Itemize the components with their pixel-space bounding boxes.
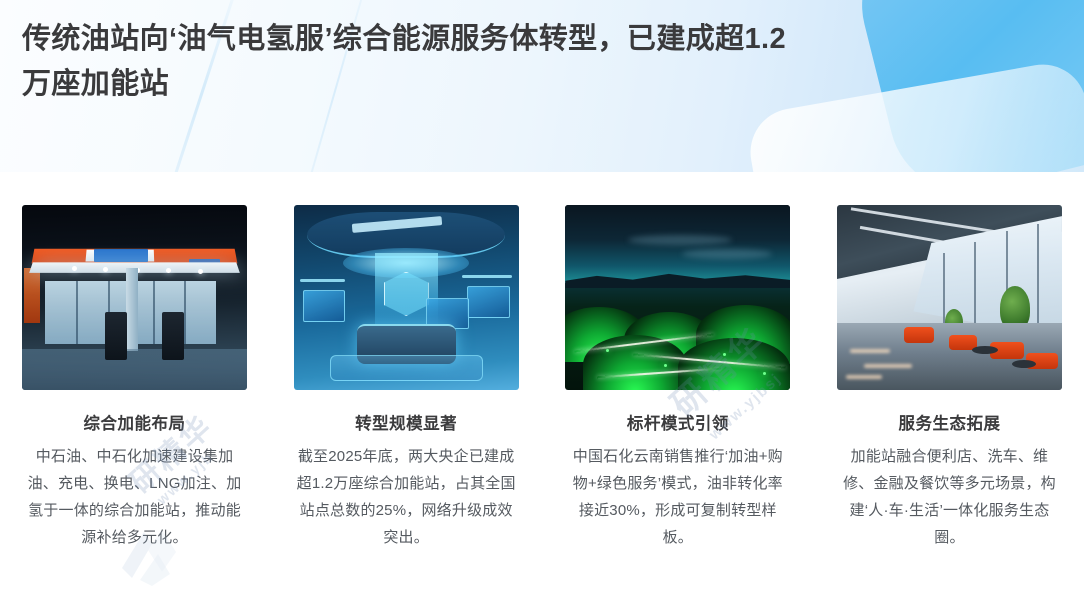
page-title: 传统油站向‘油气电氢服’综合能源服务体转型，已建成超1.2 万座加能站 — [22, 17, 1022, 107]
card-1-title: 综合加能布局 — [22, 410, 247, 434]
card-2-title: 转型规模显著 — [294, 410, 519, 434]
green-glowing-landscape-photo — [565, 205, 790, 390]
card-2[interactable]: 转型规模显著 截至2025年底，两大央企已建成超1.2万座综合加能站，占其全国站… — [294, 205, 519, 551]
photo3-node-light — [763, 372, 766, 375]
card-3-body: 中国石化云南销售推行‘加油+购物+绿色服务’模式，油非转化率接近30%，形成可复… — [565, 443, 790, 551]
card-4-title: 服务生态拓展 — [837, 410, 1062, 434]
photo1-canopy-light — [166, 268, 171, 273]
photo1-canopy-light — [198, 269, 203, 274]
photo4-window-frame — [943, 253, 945, 327]
photo1-fuel-pump — [162, 312, 184, 360]
photo1-window-mullion — [153, 281, 155, 344]
modern-service-lounge-photo — [837, 205, 1062, 390]
slide-root: 传统油站向‘油气电氢服’综合能源服务体转型，已建成超1.2 万座加能站 — [0, 0, 1084, 590]
photo2-floor-pad — [330, 355, 483, 381]
card-2-body: 截至2025年底，两大央企已建成超1.2万座综合加能站，占其全国站点总数的25%… — [294, 443, 519, 551]
photo1-support-pillar — [126, 268, 138, 351]
card-1[interactable]: 综合加能布局 中石油、中石化加速建设集加油、充电、换电、LNG加注、加氢于一体的… — [22, 205, 247, 551]
photo4-floor-reflection — [850, 349, 890, 353]
photo1-window-mullion — [76, 281, 78, 344]
photo3-cloud — [628, 235, 732, 245]
photo4-window-frame — [974, 242, 976, 327]
photo2-led-stripe — [300, 279, 345, 282]
photo4-window-frame — [1037, 224, 1039, 324]
card-4-body: 加能站融合便利店、洗车、维修、金融及餐饮等多元场景，构建‘人·车·生活’一体化服… — [837, 443, 1062, 551]
photo1-canopy-light — [103, 267, 108, 272]
card-3-title: 标杆模式引领 — [565, 410, 790, 434]
photo1-fuel-pump — [105, 312, 127, 360]
card-3[interactable]: 标杆模式引领 中国石化云南销售推行‘加油+购物+绿色服务’模式，油非转化率接近3… — [565, 205, 790, 551]
photo4-lounge-seat — [904, 327, 934, 343]
photo4-floor-reflection — [864, 364, 912, 368]
header-banner: 传统油站向‘油气电氢服’综合能源服务体转型，已建成超1.2 万座加能站 — [0, 0, 1084, 172]
card-1-body: 中石油、中石化加速建设集加油、充电、换电、LNG加注、加氢于一体的综合加能站，推… — [22, 443, 247, 551]
card-4[interactable]: 服务生态拓展 加能站融合便利店、洗车、维修、金融及餐饮等多元场景，构建‘人·车·… — [837, 205, 1062, 551]
futuristic-energy-showroom-photo — [294, 205, 519, 390]
photo2-led-stripe — [462, 275, 512, 278]
photo4-table — [972, 346, 998, 354]
night-gas-station-photo — [22, 205, 247, 390]
photo2-wall-screen — [303, 290, 346, 321]
photo1-brand-logo — [94, 249, 148, 262]
photo1-forecourt — [22, 349, 247, 390]
photo4-floor-reflection — [846, 375, 882, 379]
photo1-window-mullion — [184, 281, 186, 344]
photo1-canopy-light — [72, 266, 77, 271]
photo2-wall-screen — [467, 286, 510, 317]
photo1-neon-glow — [24, 268, 40, 324]
cards-row: 综合加能布局 中石油、中石化加速建设集加油、充电、换电、LNG加注、加氢于一体的… — [0, 205, 1084, 551]
photo3-node-light — [723, 353, 726, 356]
